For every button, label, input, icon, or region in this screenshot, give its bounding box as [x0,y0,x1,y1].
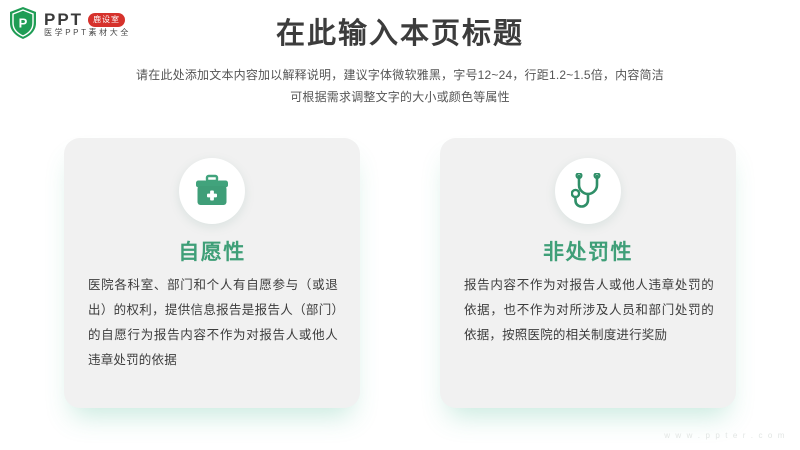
card-non-punitive[interactable]: 非处罚性 报告内容不作为对报告人或他人违章处罚的依据，也不作为对所涉及人员和部门… [440,138,736,408]
card-icon-wrap [440,158,736,224]
stethoscope-icon [555,158,621,224]
medical-kit-icon [179,158,245,224]
card-container: 自愿性 医院各科室、部门和个人有自愿参与（或退出）的权利，提供信息报告是报告人（… [64,138,736,408]
page-subtitle-line-1: 请在此处添加文本内容加以解释说明，建议字体微软雅黑，字号12~24，行距1.2~… [0,64,800,86]
card-voluntariness[interactable]: 自愿性 医院各科室、部门和个人有自愿参与（或退出）的权利，提供信息报告是报告人（… [64,138,360,408]
page-title: 在此输入本页标题 [0,16,800,52]
footer-watermark: w w w . p p t e r . c o m [664,431,786,440]
card-body-text: 医院各科室、部门和个人有自愿参与（或退出）的权利，提供信息报告是报告人（部门）的… [88,273,338,373]
card-heading: 非处罚性 [440,236,736,266]
card-icon-wrap [64,158,360,224]
card-body-text: 报告内容不作为对报告人或他人违章处罚的依据，也不作为对所涉及人员和部门处罚的依据… [464,273,714,348]
card-heading: 自愿性 [64,236,360,266]
page-subtitle-line-2: 可根据需求调整文字的大小或颜色等属性 [0,86,800,108]
page-subtitle: 请在此处添加文本内容加以解释说明，建议字体微软雅黑，字号12~24，行距1.2~… [0,64,800,108]
